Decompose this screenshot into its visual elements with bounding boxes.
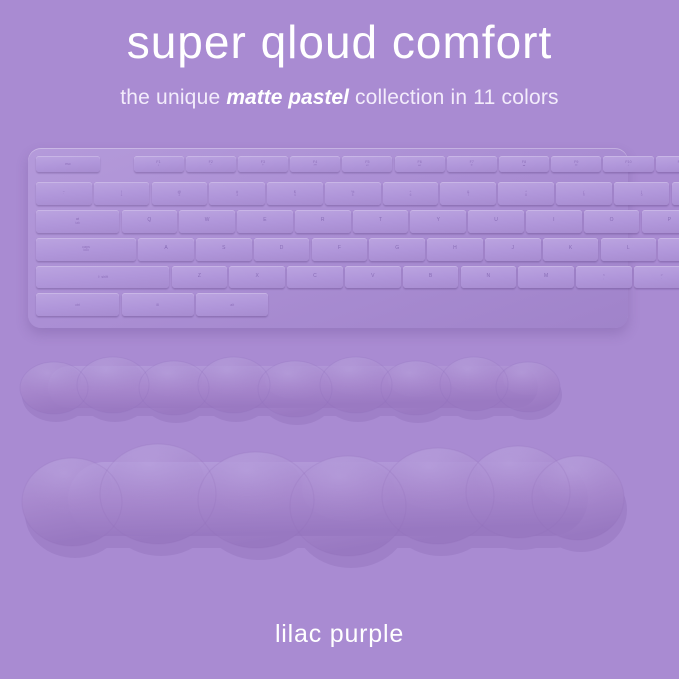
product-banner: super qloud comfort the unique matte pas… (0, 0, 679, 679)
key-legend: U (494, 218, 498, 224)
key-sublegend: 2 (178, 194, 180, 198)
key-sublegend: 7 (467, 194, 469, 198)
keyboard-row-function-row: escF1♪F2−F3+F4⏮F5⏯F6⏭F7☀F8☁F9✉F10⌕F11⌂F1… (36, 156, 679, 174)
key-sublegend: 4 (294, 194, 296, 198)
key-c[interactable]: C (287, 266, 343, 289)
key-spacer[interactable]: $4 (267, 182, 323, 205)
key-legend: T (379, 218, 382, 224)
key-sublegend: + (262, 164, 264, 168)
key-y[interactable]: Y (410, 210, 466, 233)
key-x[interactable]: X (229, 266, 285, 289)
key-legend: B (429, 274, 432, 280)
key-legend: alt (230, 303, 234, 307)
key-legend: Q (147, 218, 151, 224)
key-legend: S (222, 246, 225, 252)
key-t[interactable]: T (353, 210, 409, 233)
key-n[interactable]: N (461, 266, 517, 289)
key-spacer[interactable]: :; (658, 238, 679, 261)
key-spacer[interactable]: ⊞ (122, 293, 194, 316)
key-d[interactable]: D (254, 238, 310, 261)
key-p[interactable]: P (642, 210, 679, 233)
key-spacer[interactable]: ~` (36, 182, 92, 205)
key-l[interactable]: L (601, 238, 657, 261)
key-f6[interactable]: F6⏭ (395, 156, 445, 172)
key-m[interactable]: M (518, 266, 574, 289)
subtitle-part-1: the unique (120, 86, 226, 109)
key-legend: F (338, 246, 341, 252)
key-sublegend: ♪ (158, 164, 160, 168)
key-legend: H (453, 246, 457, 252)
key-legend: N (486, 274, 490, 280)
key-spacer[interactable]: %5 (325, 182, 381, 205)
keyboard-key-area: caps num scroll escF1♪F2−F3+F4⏮F5⏯F6⏭F7☀… (36, 156, 620, 318)
key-sublegend: ` (63, 194, 64, 198)
key-legend: Z (198, 274, 201, 280)
key-g[interactable]: G (369, 238, 425, 261)
key-sublegend: ☀ (470, 164, 473, 168)
subtitle-emphasis: matte pastel (226, 86, 349, 109)
key-spacer[interactable]: ^6 (383, 182, 439, 205)
key-f11[interactable]: F11⌂ (656, 156, 679, 172)
key-spacer-spacer (102, 156, 131, 172)
keyboard-row-shift-row: ⇧ shiftZXCVBNM<,>.?/⇧ shift↑1end2↓3pg dn (36, 266, 679, 291)
key-f1[interactable]: F1♪ (134, 156, 184, 172)
key-sublegend: ⌕ (628, 164, 630, 168)
key-legend: A (164, 246, 167, 252)
subtitle-part-3: collection in 11 colors (349, 86, 559, 109)
key-f2[interactable]: F2− (186, 156, 236, 172)
key-legend: K (569, 246, 572, 252)
key-legend: X (256, 274, 259, 280)
keyboard-row-home-row: capslockASDFGHJKL:;"'↵ enter4←56→ (36, 238, 679, 263)
key-spacer-spacer (270, 293, 679, 316)
key-sublegend: 1 (121, 194, 123, 198)
key-spacer[interactable]: #3 (209, 182, 265, 205)
key-spacer[interactable]: >. (634, 266, 679, 289)
page-title: super qloud comfort (0, 18, 679, 66)
key-spacer[interactable]: !1 (94, 182, 150, 205)
key-esc[interactable]: esc (36, 156, 100, 172)
key-f5[interactable]: F5⏯ (342, 156, 392, 172)
key-sublegend: ⏭ (418, 164, 421, 168)
key-f10[interactable]: F10⌕ (603, 156, 653, 172)
keyboard-row-qwerty-row: ⇄tabQWERTYUIOP{[}]|\deleteendpagedown7ho… (36, 210, 679, 235)
key-sublegend: ✉ (575, 164, 578, 168)
key-legend: R (321, 218, 325, 224)
key-spacer[interactable]: *8 (498, 182, 554, 205)
key-r[interactable]: R (295, 210, 351, 233)
key-legend: J (511, 246, 514, 252)
key-sublegend: , (603, 277, 604, 281)
key-sublegend: 3 (236, 194, 238, 198)
key-sublegend: 6 (410, 194, 412, 198)
keyboard-row-number-row: ~`!1@2#3$4%5^6&7*8(9)0—-+=backspace⟵inse… (36, 182, 679, 207)
key-legend: ⇧ shift (97, 275, 108, 279)
key-spacer[interactable]: &7 (440, 182, 496, 205)
key-h[interactable]: H (427, 238, 483, 261)
key-s[interactable]: S (196, 238, 252, 261)
key-sublegend: ☁ (522, 164, 525, 168)
key-j[interactable]: J (485, 238, 541, 261)
key-k[interactable]: K (543, 238, 599, 261)
key-sublegend: 0 (641, 194, 643, 198)
key-f3[interactable]: F3+ (238, 156, 288, 172)
key-sublegend: 9 (583, 194, 585, 198)
key-legend: P (668, 218, 671, 224)
key-sublegend: 8 (525, 194, 527, 198)
key-legend: G (395, 246, 399, 252)
key-o[interactable]: O (584, 210, 640, 233)
key-legend: L (627, 246, 630, 252)
key-legend: C (313, 274, 317, 280)
key-a[interactable]: A (138, 238, 194, 261)
keyboard-row-bottom-row: ctrl⊞altaltfn☰ctrl←↓→0ins.del (36, 293, 679, 318)
key-v[interactable]: V (345, 266, 401, 289)
key-legend: E (263, 218, 266, 224)
key-spacer[interactable]: )0 (614, 182, 670, 205)
key-legend: D (280, 246, 284, 252)
key-legend: ctrl (75, 303, 80, 307)
key-spacer[interactable]: @2 (152, 182, 208, 205)
key-legend: M (544, 274, 548, 280)
key-z[interactable]: Z (172, 266, 228, 289)
key-sublegend: . (661, 277, 662, 281)
key-spacer[interactable]: (9 (556, 182, 612, 205)
subtitle: the unique matte pastel collection in 11… (0, 86, 679, 110)
key-spacer[interactable]: —- (672, 182, 679, 205)
key-legend: ⊞ (156, 303, 159, 307)
key-alt[interactable]: alt (196, 293, 268, 316)
key-legend: O (610, 218, 614, 224)
key-q[interactable]: Q (122, 210, 178, 233)
key-f9[interactable]: F9✉ (551, 156, 601, 172)
mouse-pad (18, 434, 628, 594)
key-sublegend: − (210, 164, 212, 168)
key-sublegend: 5 (352, 194, 354, 198)
key-spacer[interactable]: <, (576, 266, 632, 289)
key-b[interactable]: B (403, 266, 459, 289)
key-f8[interactable]: F8☁ (499, 156, 549, 172)
key-sublegend: lock (83, 249, 89, 253)
key-i[interactable]: I (526, 210, 582, 233)
key-legend: W (205, 218, 210, 224)
key-f[interactable]: F (312, 238, 368, 261)
key-spacer[interactable]: ⇄tab (36, 210, 119, 233)
key-shift[interactable]: ⇧ shift (36, 266, 169, 289)
key-legend: Y (437, 218, 440, 224)
key-ctrl[interactable]: ctrl (36, 293, 119, 316)
key-legend: I (553, 218, 554, 224)
wrist-rest (18, 344, 578, 436)
keyboard: caps num scroll escF1♪F2−F3+F4⏮F5⏯F6⏭F7☀… (28, 148, 628, 328)
key-legend: esc (65, 162, 71, 166)
key-f4[interactable]: F4⏮ (290, 156, 340, 172)
key-sublegend: ⏯ (366, 164, 369, 168)
key-e[interactable]: E (237, 210, 293, 233)
key-u[interactable]: U (468, 210, 524, 233)
key-sublegend: tab (75, 222, 80, 226)
key-caps[interactable]: capslock (36, 238, 136, 261)
key-f7[interactable]: F7☀ (447, 156, 497, 172)
key-legend: V (371, 274, 374, 280)
key-w[interactable]: W (179, 210, 235, 233)
key-sublegend: ⏮ (314, 164, 317, 168)
color-name-caption: lilac purple (0, 620, 679, 649)
